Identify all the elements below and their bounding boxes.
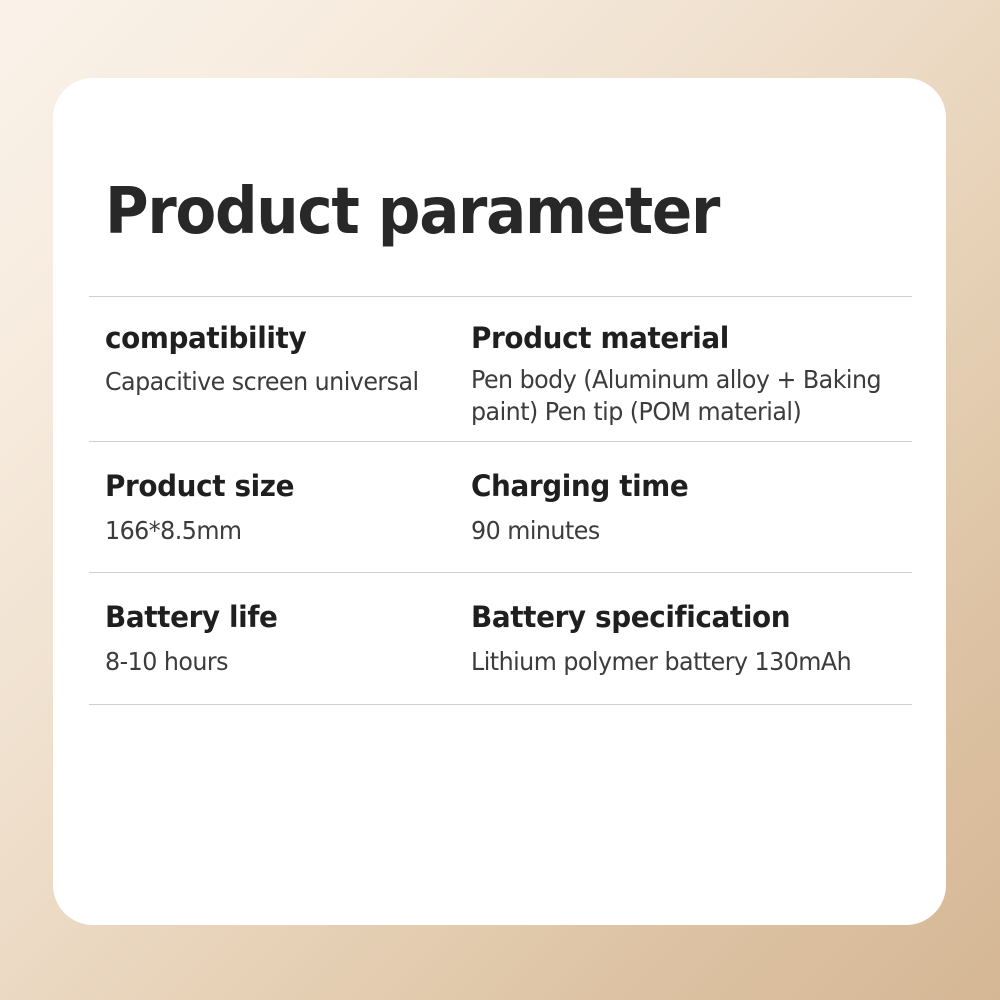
spec-row: compatibility Capacitive screen universa… — [89, 297, 912, 441]
spec-cell-charging-time: Charging time 90 minutes — [470, 470, 912, 546]
spec-value: 90 minutes — [471, 515, 890, 547]
spec-cell-battery-specification: Battery specification Lithium polymer ba… — [470, 601, 912, 677]
spec-cell-product-size: Product size 166*8.5mm — [89, 470, 470, 546]
spec-value: 166*8.5mm — [105, 515, 452, 547]
spec-label: Product size — [105, 470, 455, 503]
product-parameter-card: Product parameter compatibility Capaciti… — [53, 78, 946, 925]
spec-value: 8-10 hours — [105, 646, 452, 678]
spec-label: compatibility — [105, 322, 455, 355]
spec-value: Pen body (Aluminum alloy + Baking paint)… — [471, 364, 890, 427]
page-title: Product parameter — [105, 180, 719, 244]
divider-bottom — [89, 704, 912, 705]
spec-label: Product material — [471, 322, 894, 355]
spec-table: compatibility Capacitive screen universa… — [89, 296, 912, 705]
spec-label: Battery life — [105, 601, 455, 634]
spec-label: Battery specification — [471, 601, 894, 634]
spec-label: Charging time — [471, 470, 894, 503]
spec-row: Product size 166*8.5mm Charging time 90 … — [89, 442, 912, 572]
spec-cell-battery-life: Battery life 8-10 hours — [89, 601, 470, 677]
spec-value: Capacitive screen universal — [105, 366, 452, 398]
spec-cell-compatibility: compatibility Capacitive screen universa… — [89, 322, 470, 398]
page-background: Product parameter compatibility Capaciti… — [0, 0, 1000, 1000]
spec-row: Battery life 8-10 hours Battery specific… — [89, 573, 912, 704]
spec-cell-product-material: Product material Pen body (Aluminum allo… — [470, 322, 912, 427]
spec-value: Lithium polymer battery 130mAh — [471, 646, 890, 678]
